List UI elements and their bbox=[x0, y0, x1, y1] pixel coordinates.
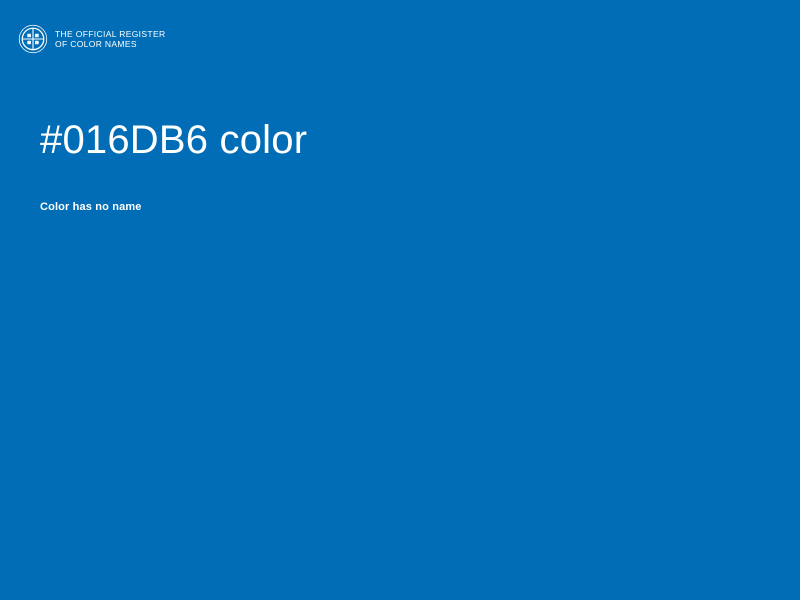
page-title: #016DB6 color bbox=[40, 120, 760, 160]
brand-logo-link[interactable]: THE OFFICIAL REGISTER OF COLOR NAMES bbox=[18, 24, 165, 54]
brand-line-1: THE OFFICIAL REGISTER bbox=[55, 29, 165, 39]
color-name-status: Color has no name bbox=[40, 202, 760, 213]
brand-wordmark: THE OFFICIAL REGISTER OF COLOR NAMES bbox=[55, 29, 165, 49]
register-seal-icon bbox=[18, 24, 48, 54]
color-info-block: #016DB6 color Color has no name bbox=[40, 120, 760, 213]
color-page: THE OFFICIAL REGISTER OF COLOR NAMES #01… bbox=[0, 0, 800, 600]
brand-line-2: OF COLOR NAMES bbox=[55, 39, 165, 49]
